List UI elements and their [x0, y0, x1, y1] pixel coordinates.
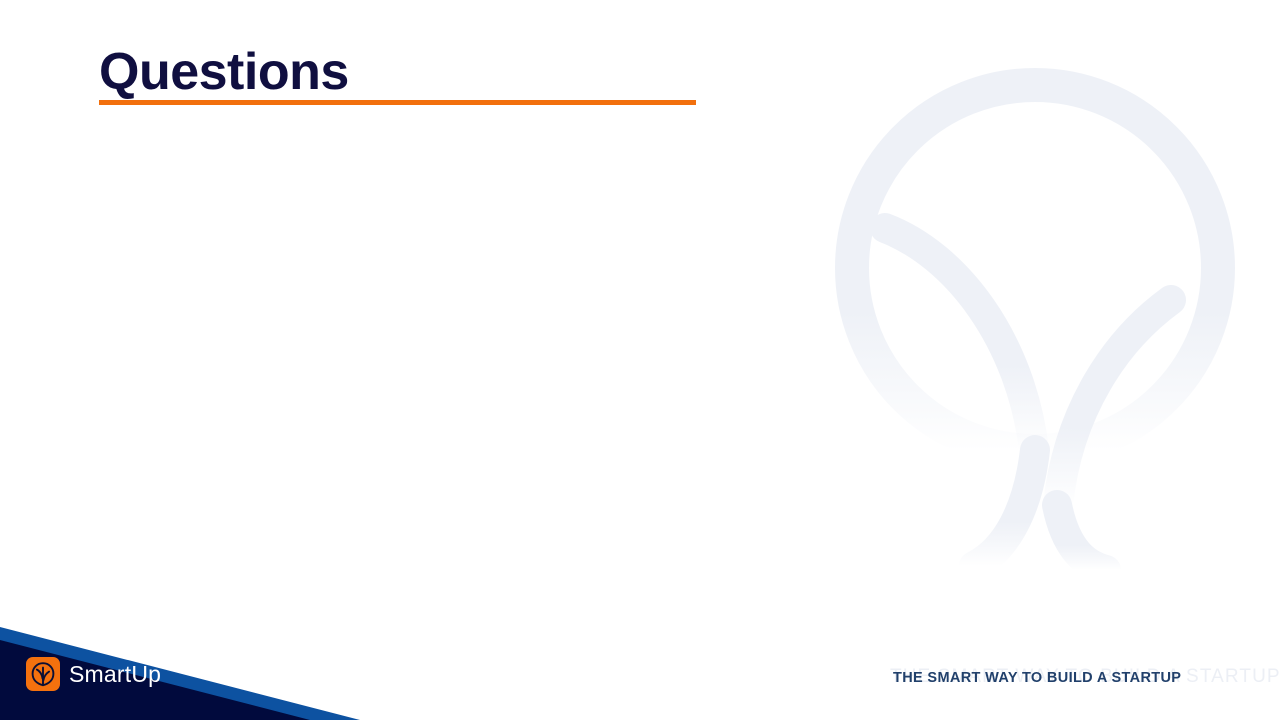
- footer-tagline: THE SMART WAY TO BUILD A STARTUP: [893, 670, 1181, 686]
- title-block: Questions: [99, 44, 699, 100]
- slide-body-content: [99, 130, 799, 580]
- page-title: Questions: [99, 44, 699, 100]
- smartup-tree-logo-icon: [26, 657, 60, 691]
- brand-lockup[interactable]: SmartUp: [26, 657, 161, 691]
- slide-canvas: Questions SmartUp THE SMAR: [0, 0, 1280, 720]
- footer-tagline-group: THE SMART WAY TO BUILD A STARTUP THE SMA…: [880, 666, 1280, 706]
- tree-bulb-watermark-icon: [806, 50, 1266, 710]
- title-underline-rule: [99, 100, 696, 105]
- brand-name-label: SmartUp: [69, 661, 161, 688]
